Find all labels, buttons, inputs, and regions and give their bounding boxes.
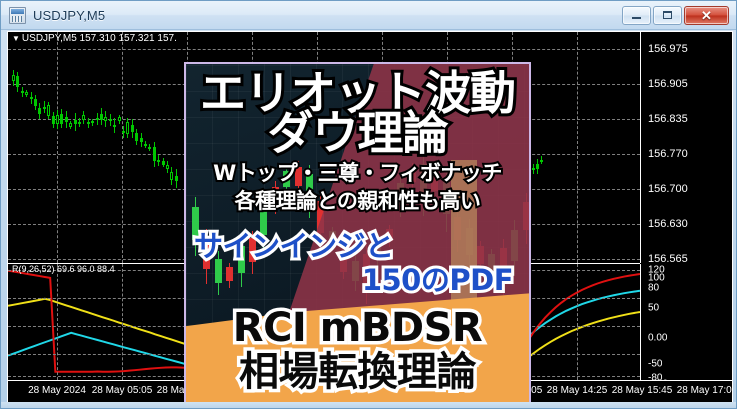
price-tick: 156.905 [648,78,688,90]
promo-sub-2: 各種理論との親和性も高い [186,188,529,214]
time-tick: 28 May 2024 [28,385,86,396]
promo-blue-2: 150のPDF [362,264,513,297]
candle [170,32,173,263]
indicator-tick: 0.00 [648,333,667,344]
promo-text-group: エリオット波動 ダウ理論 Wトップ・三尊・フィボナッチ 各種理論との親和性も高い… [186,64,529,403]
candle [126,32,129,263]
promo-sub-1: Wトップ・三尊・フィボナッチ [186,160,529,186]
candle [34,32,37,263]
price-scale[interactable]: 156.975156.905156.835156.770156.700156.6… [640,32,732,263]
minimize-icon [632,17,641,19]
time-tick: 28 May 15:45 [612,385,673,396]
candle [157,32,160,263]
candle [118,32,121,263]
candle [91,32,94,263]
candle [131,32,134,263]
candle [153,32,156,263]
candle [78,32,81,263]
symbol-quote-line: ▼USDJPY,M5 157.310 157.321 157. [12,33,177,44]
price-tick: 156.630 [648,218,688,230]
candle [30,32,33,263]
candle [536,32,539,263]
candle [104,32,107,263]
candle [69,32,72,263]
candle [82,32,85,263]
time-tick: 28 May 05:05 [92,385,153,396]
candle [56,32,59,263]
price-tick: 156.975 [648,43,688,55]
candle [12,32,15,263]
price-tick: 156.770 [648,148,688,160]
promo-overlay: エリオット波動 ダウ理論 Wトップ・三尊・フィボナッチ 各種理論との親和性も高い… [184,62,531,403]
promo-headline-2: ダウ理論 [186,108,529,158]
metatrader-chart-icon [9,7,26,24]
candle [96,32,99,263]
indicator-tick: -50 [648,359,662,370]
minimize-button[interactable] [622,6,651,25]
window-title: USDJPY,M5 [33,8,105,23]
candle [113,32,116,263]
indicator-scale[interactable]: 12010080500.00-50-80-100 [640,264,732,380]
indicator-label: R(9,26,52) 69.6 96.0 88.4 [12,264,115,274]
time-tick: 28 May 17:05 [677,385,733,396]
candle [100,32,103,263]
candle [21,32,24,263]
candle [60,32,63,263]
maximize-icon [663,11,672,19]
candle [140,32,143,263]
candle [52,32,55,263]
candle [122,32,125,263]
title-bar: USDJPY,M5 ✕ [1,1,736,30]
candle [43,32,46,263]
candle [532,32,535,263]
close-icon: ✕ [701,9,712,22]
candle [166,32,169,263]
candle [16,32,19,263]
close-button[interactable]: ✕ [684,6,729,25]
candle [74,32,77,263]
candle [175,32,178,263]
chart-area[interactable]: ▼USDJPY,M5 157.310 157.321 157. R(9,26,5… [7,31,733,403]
candle [135,32,138,263]
candle [38,32,41,263]
indicator-tick: 50 [648,303,659,314]
collapse-arrow-icon[interactable]: ▼ [12,34,20,43]
price-tick: 156.700 [648,183,688,195]
promo-black-1: RCI mBDSR [186,306,529,351]
promo-black-2: 相場転換理論 [186,350,529,395]
candle [109,32,112,263]
window-controls: ✕ [622,6,729,25]
candle [148,32,151,263]
candle [540,32,543,263]
candle [25,32,28,263]
price-tick: 156.835 [648,113,688,125]
indicator-tick: 80 [648,283,659,294]
time-tick: 28 May 14:25 [547,385,608,396]
status-bar [1,402,736,408]
candle [47,32,50,263]
metatrader-window: USDJPY,M5 ✕ ▼USDJPY,M5 157.310 157.321 1… [0,0,737,409]
symbol-quote-text: USDJPY,M5 157.310 157.321 157. [22,33,177,44]
candle [87,32,90,263]
candle [65,32,68,263]
candle [144,32,147,263]
promo-blue-1: サインインジと [194,230,394,263]
candle [162,32,165,263]
maximize-button[interactable] [653,6,682,25]
